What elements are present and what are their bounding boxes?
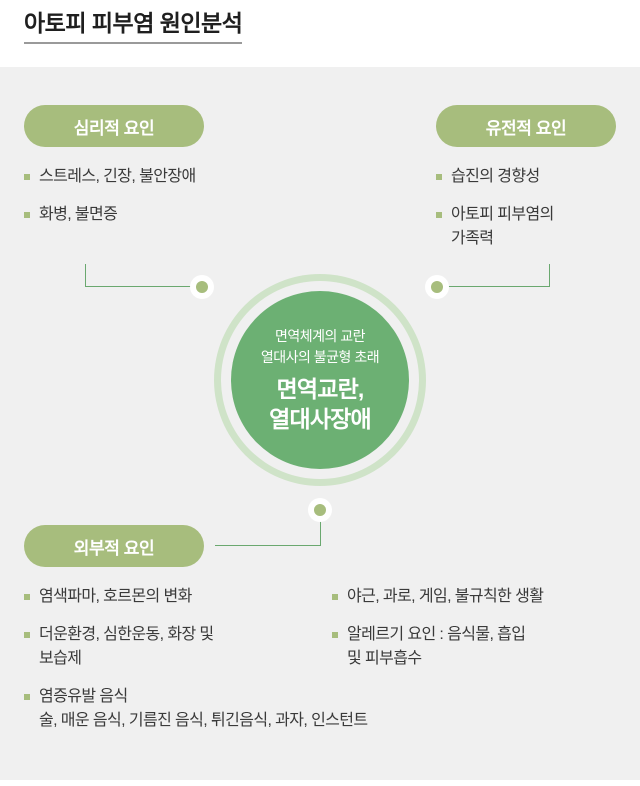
connector-left-vertical [85,264,86,287]
list-item: 아토피 피부염의 가족력 [434,203,629,251]
list-external-factors-right: 야근, 과로, 게임, 불규칙한 생활 알레르기 요인 : 음식물, 흡입 및 … [330,585,635,685]
list-external-factors-left: 염색파마, 호르몬의 변화 더운환경, 심한운동, 화장 및 보습제 염증유발 … [22,585,322,747]
page-title: 아토피 피부염 원인분석 [24,6,242,40]
list-item: 야근, 과로, 게임, 불규칙한 생활 [330,585,635,609]
connector-dot-right [431,281,443,293]
list-item-text: 염증유발 음식 [39,688,128,705]
list-item-subtext: 보습제 [39,647,322,671]
connector-bottom-horizontal [215,545,321,546]
list-item-text: 아토피 피부염의 [451,206,554,223]
badge-psychological-factors: 심리적 요인 [24,105,204,147]
badge-external-factors: 외부적 요인 [24,525,204,567]
center-subtitle-line1: 면역체계의 교란 [275,326,365,347]
list-item-subtext: 술, 매운 음식, 기름진 음식, 튀긴음식, 과자, 인스턴트 [39,709,322,733]
center-title-line1: 면역교란, [276,374,363,404]
list-item: 스트레스, 긴장, 불안장애 [22,165,322,189]
list-item: 더운환경, 심한운동, 화장 및 보습제 [22,623,322,671]
list-item: 염색파마, 호르몬의 변화 [22,585,322,609]
list-item-subtext: 및 피부흡수 [347,647,635,671]
list-item-text: 스트레스, 긴장, 불안장애 [39,168,196,185]
list-item: 화병, 불면증 [22,203,322,227]
list-item-text: 염색파마, 호르몬의 변화 [39,588,192,605]
list-item: 염증유발 음식 술, 매운 음식, 기름진 음식, 튀긴음식, 과자, 인스턴트 [22,685,322,733]
page-title-block: 아토피 피부염 원인분석 [24,6,242,44]
list-item-text: 야근, 과로, 게임, 불규칙한 생활 [347,588,543,605]
center-title-line2: 열대사장애 [269,404,371,434]
list-psychological-factors: 스트레스, 긴장, 불안장애 화병, 불면증 [22,165,322,241]
infographic-root: 아토피 피부염 원인분석 면역체계의 교란 열대사의 불균형 초래 면역교란, … [0,0,640,786]
connector-left-horizontal [85,286,203,287]
connector-right-horizontal [437,286,550,287]
list-item: 습진의 경향성 [434,165,629,189]
list-item-text: 더운환경, 심한운동, 화장 및 [39,626,214,643]
connector-dot-bottom [314,504,326,516]
list-item-text: 알레르기 요인 : 음식물, 흡입 [347,626,525,643]
badge-genetic-factors: 유전적 요인 [436,105,616,147]
title-underline [24,42,242,44]
center-subtitle-line2: 열대사의 불균형 초래 [261,347,379,368]
connector-right-vertical [549,264,550,287]
list-item-subtext: 가족력 [451,227,629,251]
list-item: 알레르기 요인 : 음식물, 흡입 및 피부흡수 [330,623,635,671]
list-item-text: 화병, 불면증 [39,206,117,223]
list-genetic-factors: 습진의 경향성 아토피 피부염의 가족력 [434,165,629,265]
connector-dot-left [196,281,208,293]
center-circle: 면역체계의 교란 열대사의 불균형 초래 면역교란, 열대사장애 [231,291,409,469]
list-item-text: 습진의 경향성 [451,168,540,185]
